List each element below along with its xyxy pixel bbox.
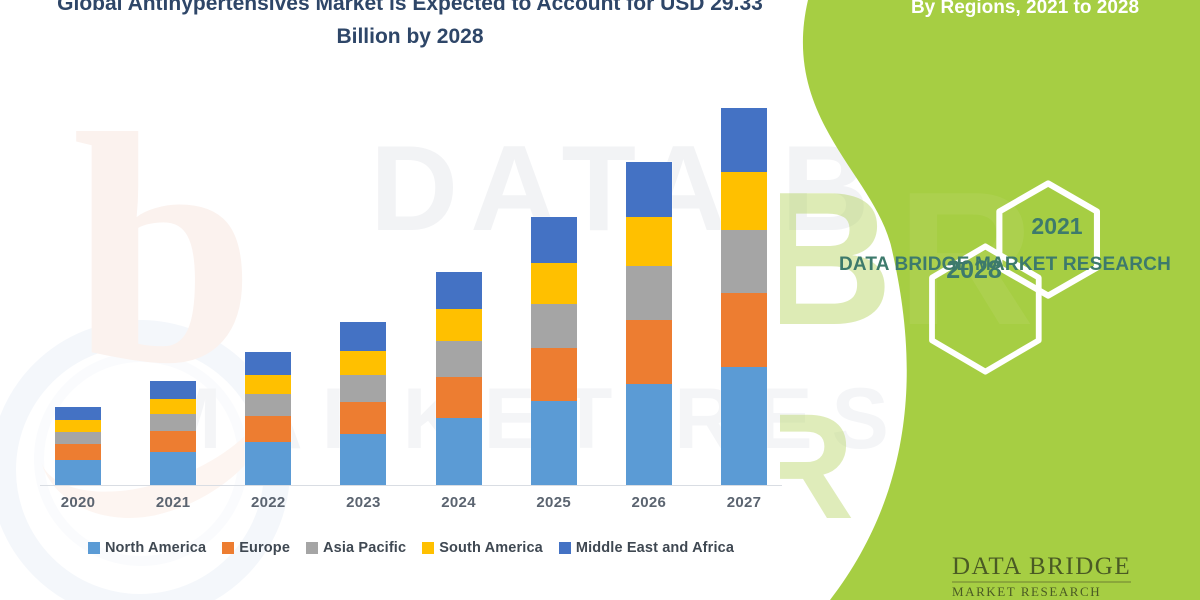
- bar-stack[interactable]: [436, 272, 482, 485]
- bar-segment[interactable]: [245, 394, 291, 416]
- bar-segment[interactable]: [150, 381, 196, 399]
- bar-column[interactable]: [427, 272, 491, 485]
- legend-label: North America: [105, 540, 206, 556]
- bar-segment[interactable]: [55, 420, 101, 431]
- bar-segment[interactable]: [150, 452, 196, 485]
- bar-segment[interactable]: [721, 230, 767, 294]
- chart-region: Global Antihypertensives Market is Expec…: [0, 0, 800, 600]
- x-axis-tick-label: 2027: [712, 494, 776, 511]
- bar-segment[interactable]: [245, 416, 291, 442]
- bar-column[interactable]: [141, 381, 205, 485]
- legend-item[interactable]: Europe: [222, 540, 290, 556]
- bar-segment[interactable]: [626, 384, 672, 485]
- x-axis-tick-label: 2024: [427, 494, 491, 511]
- legend-label: South America: [439, 540, 543, 556]
- bar-stack[interactable]: [340, 322, 386, 485]
- bar-segment[interactable]: [626, 217, 672, 266]
- bar-segment[interactable]: [245, 442, 291, 485]
- bar-segment[interactable]: [626, 320, 672, 384]
- stacked-bar-plot: [46, 100, 776, 485]
- bar-segment[interactable]: [245, 375, 291, 395]
- bar-segment[interactable]: [55, 444, 101, 460]
- bar-stack[interactable]: [721, 108, 767, 485]
- hexagon-label-2021: 2021: [1031, 213, 1082, 239]
- bar-segment[interactable]: [531, 263, 577, 304]
- bar-segment[interactable]: [340, 434, 386, 485]
- legend-swatch: [559, 542, 571, 554]
- bar-stack[interactable]: [626, 162, 672, 485]
- bar-segment[interactable]: [721, 108, 767, 173]
- bar-segment[interactable]: [55, 460, 101, 485]
- legend-label: Asia Pacific: [323, 540, 406, 556]
- bar-column[interactable]: [712, 108, 776, 485]
- chart-title: Global Antihypertensives Market is Expec…: [40, 0, 780, 53]
- bar-segment[interactable]: [55, 432, 101, 445]
- legend-label: Middle East and Africa: [576, 540, 734, 556]
- legend-swatch: [88, 542, 100, 554]
- bar-stack[interactable]: [150, 381, 196, 485]
- bar-column[interactable]: [236, 352, 300, 485]
- bar-segment[interactable]: [626, 266, 672, 320]
- bar-stack[interactable]: [531, 217, 577, 485]
- bar-segment[interactable]: [626, 162, 672, 217]
- bar-segment[interactable]: [150, 399, 196, 415]
- bar-segment[interactable]: [721, 172, 767, 229]
- bar-column[interactable]: [617, 162, 681, 485]
- bar-segment[interactable]: [436, 418, 482, 485]
- x-axis-tick-label: 2022: [236, 494, 300, 511]
- bar-segment[interactable]: [340, 375, 386, 402]
- legend-item[interactable]: North America: [88, 540, 206, 556]
- legend-item[interactable]: Asia Pacific: [306, 540, 406, 556]
- brand-mark-icon: [880, 546, 942, 600]
- x-axis-tick-label: 2023: [331, 494, 395, 511]
- bar-segment[interactable]: [531, 348, 577, 400]
- bar-segment[interactable]: [436, 272, 482, 308]
- x-axis-tick-label: 2021: [141, 494, 205, 511]
- bar-segment[interactable]: [436, 309, 482, 341]
- x-axis-tick-label: 2026: [617, 494, 681, 511]
- legend-swatch: [306, 542, 318, 554]
- bar-column[interactable]: [46, 407, 110, 485]
- bar-stack[interactable]: [55, 407, 101, 485]
- bar-column[interactable]: [522, 217, 586, 485]
- hexagon-svg: 2028 2021: [780, 0, 1200, 600]
- x-axis-labels: 20202021202220232024202520262027: [46, 494, 776, 511]
- panel-caption: DATA BRIDGE MARKET RESEARCH: [820, 250, 1190, 279]
- bar-segment[interactable]: [150, 414, 196, 431]
- legend-item[interactable]: Middle East and Africa: [559, 540, 734, 556]
- x-axis-tick-label: 2020: [46, 494, 110, 511]
- brand-logo: DATA BRIDGE MARKET RESEARCH: [880, 546, 1131, 600]
- bar-segment[interactable]: [531, 401, 577, 485]
- bridge-logo-icon: [880, 546, 1200, 600]
- bar-segment[interactable]: [245, 352, 291, 375]
- bar-segment[interactable]: [340, 322, 386, 350]
- right-green-panel: BR R By Regions, 2021 to 2028 2028 2021 …: [780, 0, 1200, 600]
- legend-item[interactable]: South America: [422, 540, 543, 556]
- bar-segment[interactable]: [531, 304, 577, 349]
- legend-swatch: [422, 542, 434, 554]
- legend-swatch: [222, 542, 234, 554]
- bar-segment[interactable]: [340, 351, 386, 375]
- bar-segment[interactable]: [436, 341, 482, 376]
- bar-segment[interactable]: [531, 217, 577, 263]
- x-axis-line: [40, 485, 782, 486]
- legend-label: Europe: [239, 540, 290, 556]
- bar-segment[interactable]: [721, 367, 767, 485]
- bar-segment[interactable]: [436, 377, 482, 419]
- bar-segment[interactable]: [55, 407, 101, 421]
- bar-segment[interactable]: [150, 431, 196, 452]
- bar-stack[interactable]: [245, 352, 291, 485]
- chart-legend: North AmericaEuropeAsia PacificSouth Ame…: [40, 540, 782, 556]
- bar-segment[interactable]: [340, 402, 386, 434]
- hexagon-group: 2028 2021: [780, 0, 1200, 260]
- bar-column[interactable]: [331, 322, 395, 485]
- x-axis-tick-label: 2025: [522, 494, 586, 511]
- bar-segment[interactable]: [721, 293, 767, 367]
